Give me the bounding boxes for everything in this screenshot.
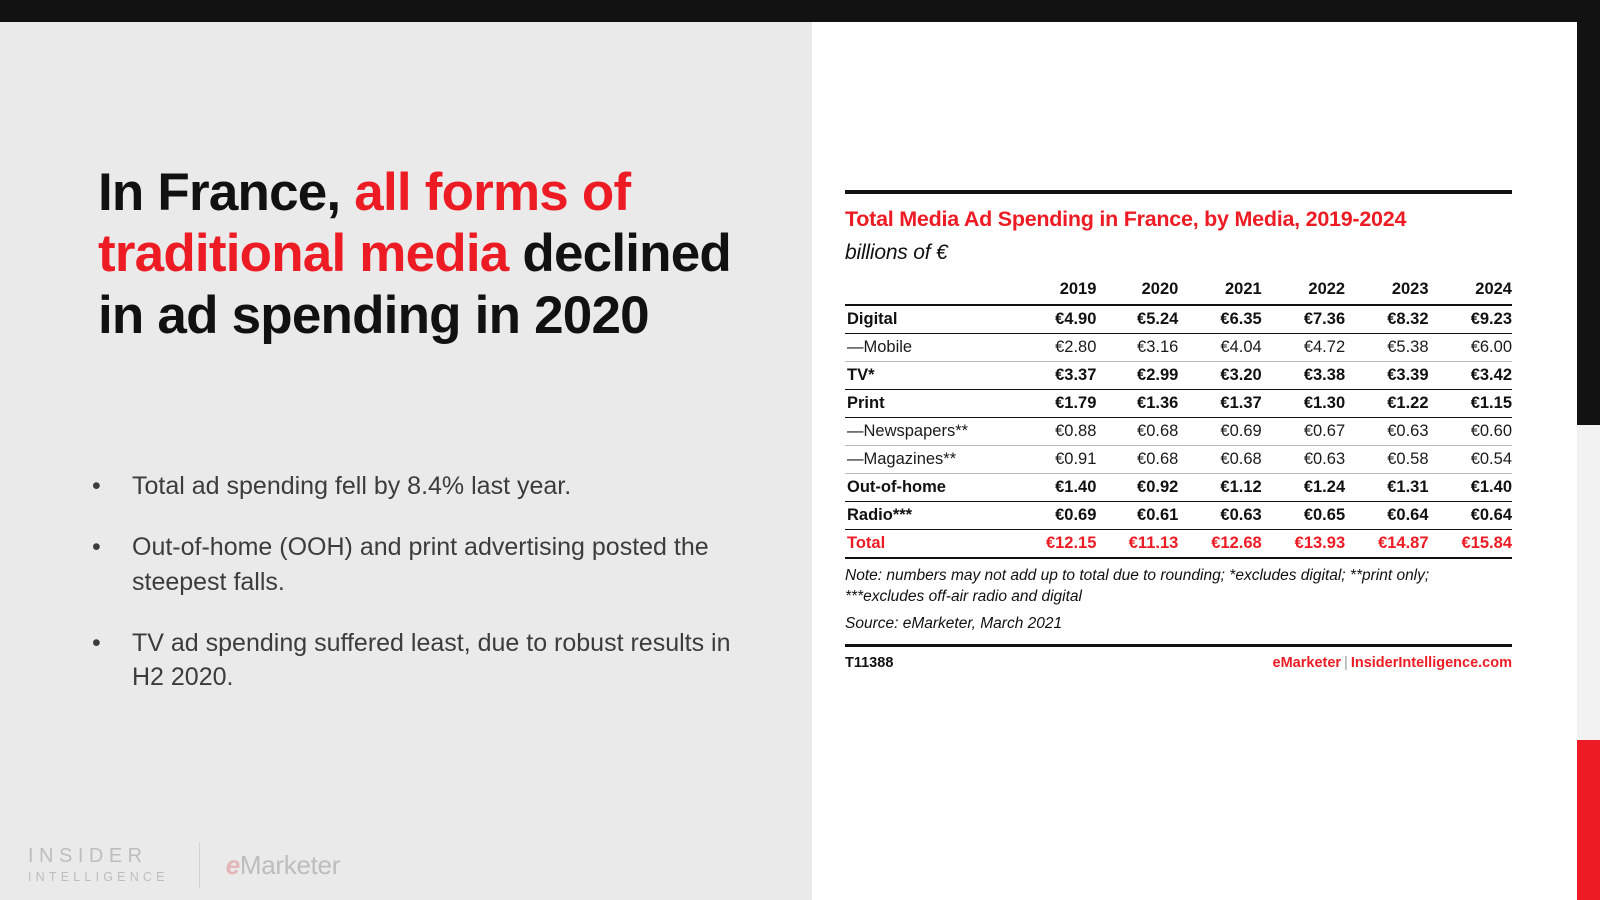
table-row: Print €1.79 €1.36 €1.37 €1.30 €1.22 €1.1… [845, 390, 1512, 418]
bullet-list: • Total ad spending fell by 8.4% last ye… [92, 469, 732, 721]
brand-separator: | [1344, 655, 1348, 671]
bullet-marker-icon: • [92, 626, 132, 695]
brand-emarketer: eMarketer [1273, 655, 1342, 671]
column-header-blank [845, 276, 1013, 305]
logo-divider [199, 842, 200, 888]
row-label: —Mobile [845, 334, 1013, 362]
cell-value: €1.40 [1429, 474, 1512, 502]
cell-value: €7.36 [1262, 305, 1345, 334]
emarketer-e-glyph: e [226, 850, 240, 880]
top-black-bar [0, 0, 1600, 22]
cell-value: €12.15 [1013, 530, 1096, 559]
cell-value: €8.32 [1345, 305, 1428, 334]
row-label: —Magazines** [845, 446, 1013, 474]
table-header-row: 2019 2020 2021 2022 2023 2024 [845, 276, 1512, 305]
cell-value: €4.90 [1013, 305, 1096, 334]
cell-value: €0.60 [1429, 418, 1512, 446]
column-header-2023: 2023 [1345, 276, 1428, 305]
bullet-text: Total ad spending fell by 8.4% last year… [132, 469, 732, 503]
cell-value: €14.87 [1345, 530, 1428, 559]
bullet-marker-icon: • [92, 530, 132, 599]
emarketer-wordmark: eMarketer [226, 850, 340, 881]
cell-value: €0.64 [1345, 502, 1428, 530]
cell-value: €4.04 [1178, 334, 1261, 362]
table-header: 2019 2020 2021 2022 2023 2024 [845, 276, 1512, 305]
chart-note: Note: numbers may not add up to total du… [845, 566, 1512, 607]
cell-value: €9.23 [1429, 305, 1512, 334]
cell-value: €0.54 [1429, 446, 1512, 474]
column-header-2022: 2022 [1262, 276, 1345, 305]
cell-value: €0.69 [1013, 502, 1096, 530]
table-row: Digital €4.90 €5.24 €6.35 €7.36 €8.32 €9… [845, 305, 1512, 334]
cell-value: €1.37 [1178, 390, 1261, 418]
table-row: Radio*** €0.69 €0.61 €0.63 €0.65 €0.64 €… [845, 502, 1512, 530]
cell-value: €3.38 [1262, 362, 1345, 390]
logo-line-intelligence: INTELLIGENCE [28, 869, 169, 885]
cell-value: €0.63 [1178, 502, 1261, 530]
logo-line-insider: INSIDER [28, 844, 169, 869]
cell-value: €1.31 [1345, 474, 1428, 502]
bullet-text: Out-of-home (OOH) and print advertising … [132, 530, 732, 599]
data-table: 2019 2020 2021 2022 2023 2024 Digital €4… [845, 276, 1512, 559]
cell-value: €0.63 [1345, 418, 1428, 446]
right-edge-gray-block [1577, 425, 1600, 740]
row-label: Total [845, 530, 1013, 559]
brand-attribution: eMarketer|InsiderIntelligence.com [1273, 655, 1512, 671]
cell-value: €12.68 [1178, 530, 1261, 559]
list-item: • Out-of-home (OOH) and print advertisin… [92, 530, 732, 599]
cell-value: €0.64 [1429, 502, 1512, 530]
table-row: TV* €3.37 €2.99 €3.20 €3.38 €3.39 €3.42 [845, 362, 1512, 390]
cell-value: €11.13 [1096, 530, 1178, 559]
list-item: • Total ad spending fell by 8.4% last ye… [92, 469, 732, 503]
cell-value: €1.12 [1178, 474, 1261, 502]
cell-value: €0.68 [1096, 418, 1178, 446]
cell-value: €13.93 [1262, 530, 1345, 559]
bullet-text: TV ad spending suffered least, due to ro… [132, 626, 732, 695]
bullet-marker-icon: • [92, 469, 132, 503]
cell-value: €3.42 [1429, 362, 1512, 390]
table-row: —Magazines** €0.91 €0.68 €0.68 €0.63 €0.… [845, 446, 1512, 474]
right-edge-red-block [1577, 740, 1600, 900]
cell-value: €3.39 [1345, 362, 1428, 390]
cell-value: €3.16 [1096, 334, 1178, 362]
left-content-panel: In France, all forms of traditional medi… [0, 22, 812, 900]
list-item: • TV ad spending suffered least, due to … [92, 626, 732, 695]
insider-intelligence-wordmark: INSIDER INTELLIGENCE [28, 844, 169, 885]
cell-value: €0.69 [1178, 418, 1261, 446]
cell-value: €1.30 [1262, 390, 1345, 418]
row-label: Print [845, 390, 1013, 418]
cell-value: €3.37 [1013, 362, 1096, 390]
headline-part-1: In France, [98, 163, 354, 222]
emarketer-rest: Marketer [240, 850, 340, 880]
chart-subtitle: billions of € [845, 241, 1512, 265]
cell-value: €15.84 [1429, 530, 1512, 559]
table-row-total: Total €12.15 €11.13 €12.68 €13.93 €14.87… [845, 530, 1512, 559]
cell-value: €1.36 [1096, 390, 1178, 418]
cell-value: €0.63 [1262, 446, 1345, 474]
cell-value: €2.80 [1013, 334, 1096, 362]
cell-value: €0.67 [1262, 418, 1345, 446]
cell-value: €4.72 [1262, 334, 1345, 362]
column-header-2019: 2019 [1013, 276, 1096, 305]
row-label: Out-of-home [845, 474, 1013, 502]
cell-value: €0.68 [1096, 446, 1178, 474]
right-edge-dark-block [1577, 22, 1600, 425]
slide-canvas: In France, all forms of traditional medi… [0, 0, 1600, 900]
cell-value: €6.35 [1178, 305, 1261, 334]
page-title: In France, all forms of traditional medi… [98, 162, 758, 346]
insider-intelligence-logo: INSIDER INTELLIGENCE eMarketer [28, 842, 340, 888]
column-header-2021: 2021 [1178, 276, 1261, 305]
table-row: Out-of-home €1.40 €0.92 €1.12 €1.24 €1.3… [845, 474, 1512, 502]
row-label: Digital [845, 305, 1013, 334]
table-row: —Mobile €2.80 €3.16 €4.04 €4.72 €5.38 €6… [845, 334, 1512, 362]
chart-card: Total Media Ad Spending in France, by Me… [845, 190, 1512, 671]
cell-value: €0.92 [1096, 474, 1178, 502]
cell-value: €0.65 [1262, 502, 1345, 530]
cell-value: €1.15 [1429, 390, 1512, 418]
cell-value: €6.00 [1429, 334, 1512, 362]
cell-value: €5.38 [1345, 334, 1428, 362]
row-label: —Newspapers** [845, 418, 1013, 446]
chart-top-rule [845, 190, 1512, 194]
chart-bottom-rule [845, 644, 1512, 647]
brand-website: InsiderIntelligence.com [1351, 655, 1512, 671]
chart-source: Source: eMarketer, March 2021 [845, 614, 1512, 635]
table-row: —Newspapers** €0.88 €0.68 €0.69 €0.67 €0… [845, 418, 1512, 446]
cell-value: €0.58 [1345, 446, 1428, 474]
cell-value: €1.22 [1345, 390, 1428, 418]
cell-value: €1.79 [1013, 390, 1096, 418]
chart-footer: T11388 eMarketer|InsiderIntelligence.com [845, 655, 1512, 671]
chart-title: Total Media Ad Spending in France, by Me… [845, 206, 1512, 232]
cell-value: €1.40 [1013, 474, 1096, 502]
row-label: Radio*** [845, 502, 1013, 530]
cell-value: €5.24 [1096, 305, 1178, 334]
cell-value: €1.24 [1262, 474, 1345, 502]
table-body: Digital €4.90 €5.24 €6.35 €7.36 €8.32 €9… [845, 305, 1512, 558]
cell-value: €0.88 [1013, 418, 1096, 446]
cell-value: €3.20 [1178, 362, 1261, 390]
cell-value: €0.91 [1013, 446, 1096, 474]
cell-value: €0.61 [1096, 502, 1178, 530]
row-label: TV* [845, 362, 1013, 390]
table-id: T11388 [845, 655, 893, 671]
column-header-2020: 2020 [1096, 276, 1178, 305]
cell-value: €0.68 [1178, 446, 1261, 474]
cell-value: €2.99 [1096, 362, 1178, 390]
column-header-2024: 2024 [1429, 276, 1512, 305]
